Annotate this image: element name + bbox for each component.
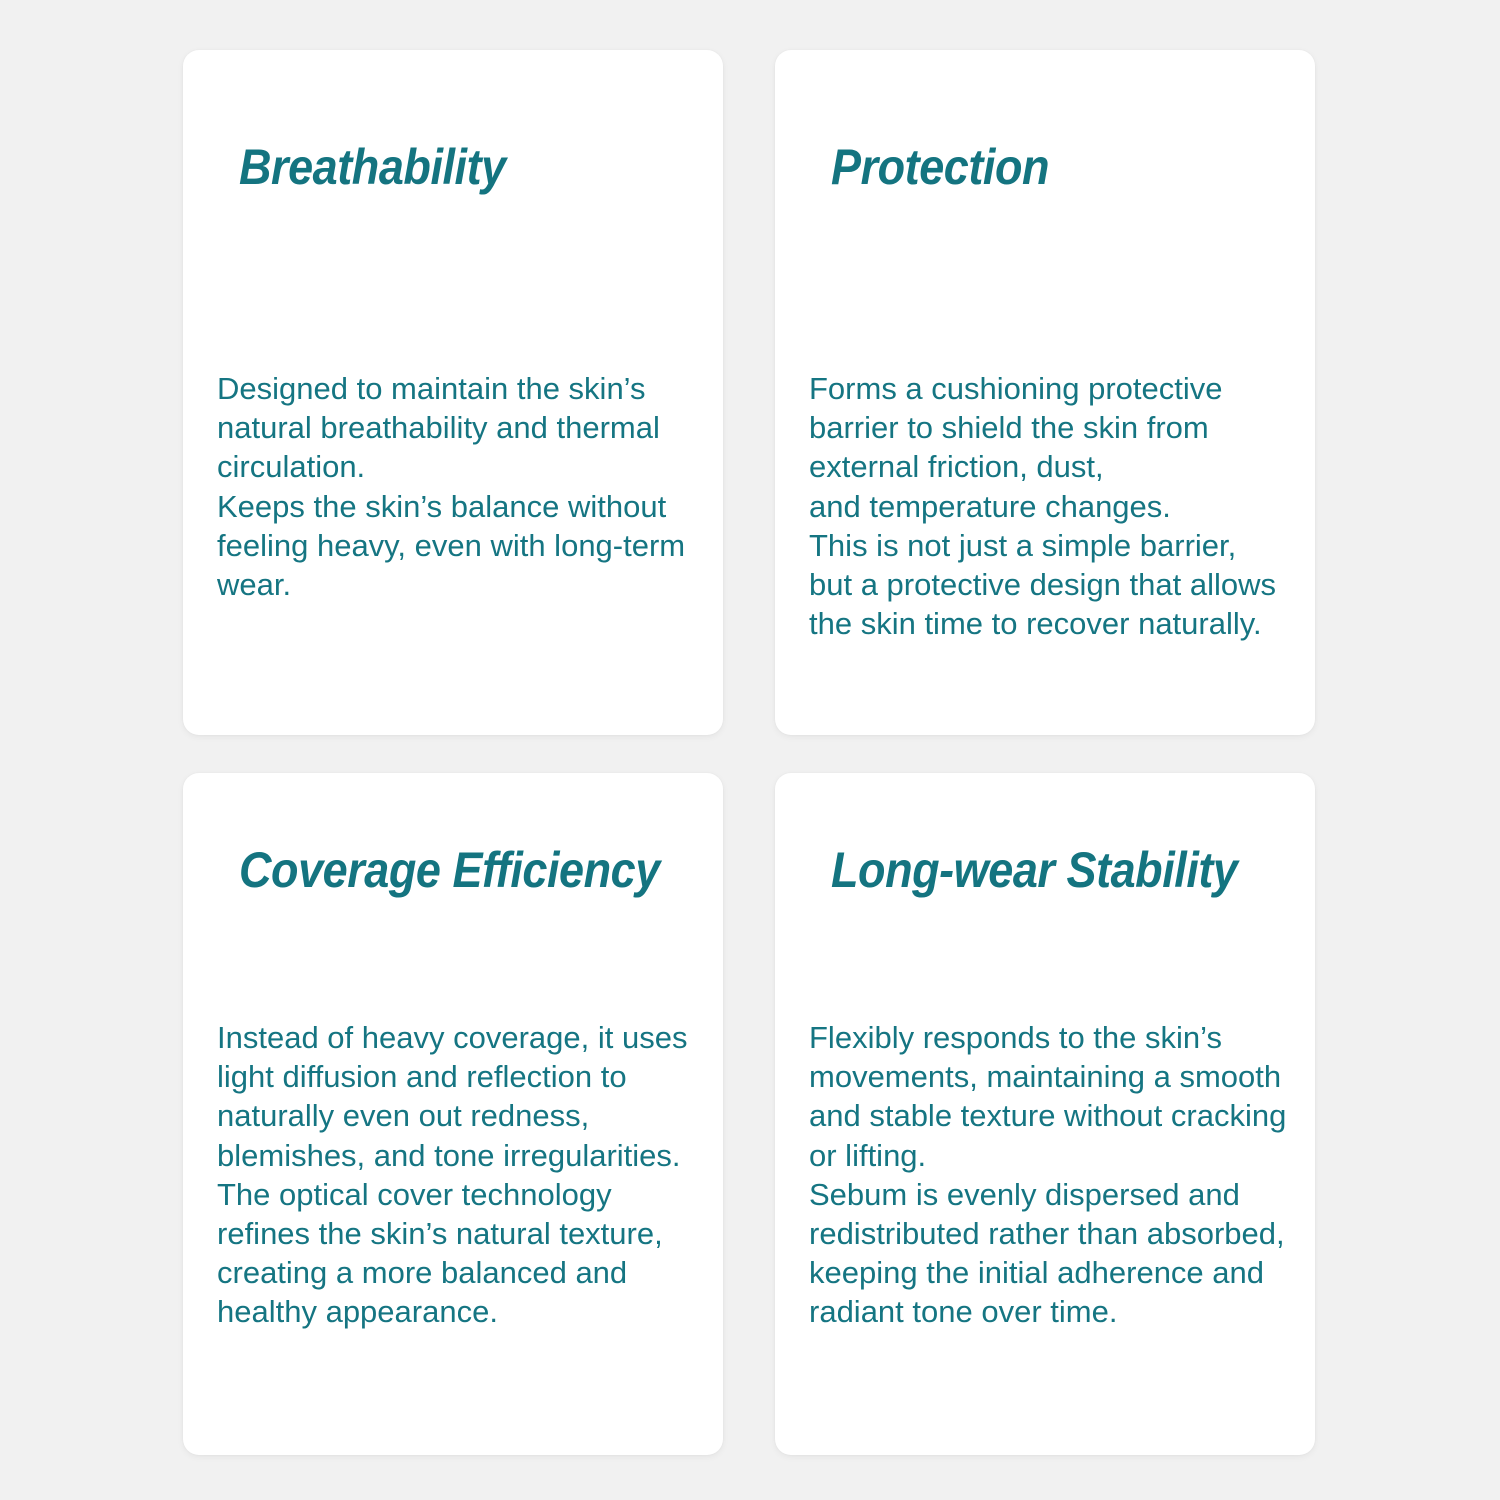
feature-card-breathability: Breathability Designed to maintain the s… — [183, 50, 723, 735]
card-body-breathability: Designed to maintain the skin’s natural … — [217, 369, 705, 604]
card-heading-long-wear-stability: Long-wear Stability — [831, 845, 1238, 895]
feature-card-grid: Breathability Designed to maintain the s… — [183, 50, 1315, 1455]
card-body-coverage-efficiency: Instead of heavy coverage, it uses light… — [217, 1018, 705, 1332]
card-heading-coverage-efficiency: Coverage Efficiency — [239, 845, 660, 895]
card-heading-protection: Protection — [831, 142, 1049, 192]
feature-card-long-wear-stability: Long-wear Stability Flexibly responds to… — [775, 773, 1315, 1455]
card-body-protection: Forms a cushioning protective barrier to… — [809, 369, 1297, 643]
feature-card-coverage-efficiency: Coverage Efficiency Instead of heavy cov… — [183, 773, 723, 1455]
feature-card-protection: Protection Forms a cushioning protective… — [775, 50, 1315, 735]
card-heading-breathability: Breathability — [239, 142, 506, 192]
card-body-long-wear-stability: Flexibly responds to the skin’s movement… — [809, 1018, 1297, 1332]
